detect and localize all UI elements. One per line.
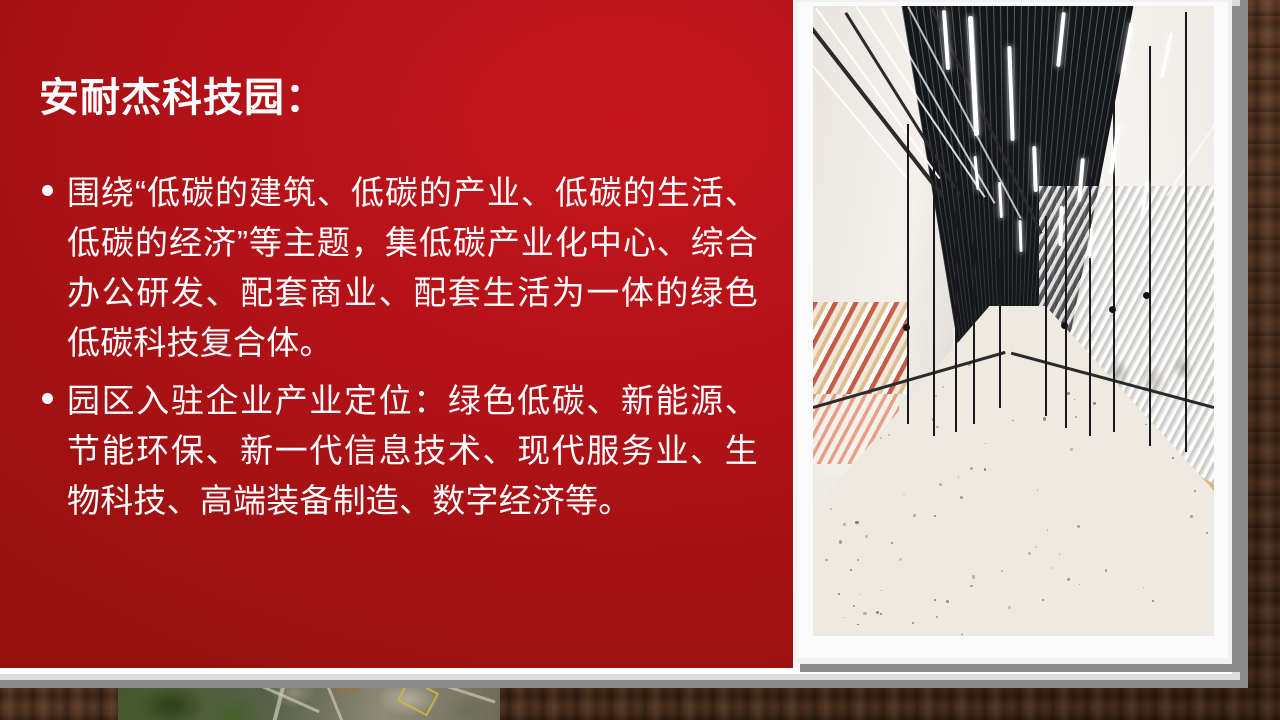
photo-terrazzo-fleck [860,594,861,595]
bullet-dot-icon [42,185,53,196]
photo-door-handle [903,324,910,331]
photo-terrazzo-fleck [880,613,882,615]
photo-glass-mullion [1185,12,1187,452]
photo-terrazzo-fleck [936,616,939,619]
photo-terrazzo-fleck [1043,417,1046,420]
photo-terrazzo-fleck [958,476,960,478]
photo-terrazzo-fleck [1008,606,1011,609]
photo-terrazzo-fleck [961,633,964,636]
photo-terrazzo-fleck [1028,552,1031,555]
photo-terrazzo-fleck [1067,578,1070,581]
photo-terrazzo-fleck [972,575,975,578]
photo-terrazzo-fleck [843,523,845,525]
photo-terrazzo-fleck [839,540,842,543]
photo-glass-mullion [973,218,975,424]
photo-glass-mullion [1045,216,1047,416]
photo-terrazzo-fleck [881,590,882,591]
photo-terrazzo-fleck [1042,599,1044,601]
list-item: 围绕“低碳的建筑、低碳的产业、低碳的生活、低碳的经济”等主题，集低碳产业化中心、… [38,168,758,368]
photo-terrazzo-fleck [865,535,868,538]
list-item-text: 园区入驻企业产业定位：绿色低碳、新能源、节能环保、新一代信息技术、现代服务业、生… [67,382,758,519]
photo-terrazzo-fleck [903,494,905,496]
photo-terrazzo-fleck [913,514,916,517]
red-content-panel: 安耐杰科技园： 围绕“低碳的建筑、低碳的产业、低碳的生活、低碳的经济”等主题，集… [0,0,793,668]
photo-terrazzo-fleck [880,437,882,439]
photo-terrazzo-fleck [912,622,914,624]
photo-terrazzo-fleck [844,617,845,618]
photo-terrazzo-fleck [876,611,879,614]
photo-glass-mullion [933,146,935,436]
photo-terrazzo-fleck [1059,553,1060,554]
photo-terrazzo-fleck [960,496,963,499]
photo-glass-mullion [1149,46,1151,446]
bullet-list: 围绕“低碳的建筑、低碳的产业、低碳的生活、低碳的经济”等主题，集低碳产业化中心、… [38,168,758,534]
photo-terrazzo-fleck [1152,600,1154,602]
photo-terrazzo-fleck [1001,570,1003,572]
presentation-slide: 安耐杰科技园： 围绕“低碳的建筑、低碳的产业、低碳的生活、低碳的经济”等主题，集… [0,0,1280,720]
photo-terrazzo-fleck [934,599,936,601]
photo-terrazzo-fleck [855,521,858,524]
photo-terrazzo-fleck [863,612,866,615]
photo-terrazzo-fleck [970,585,973,588]
photo-glass-mullion [1065,182,1067,428]
list-item: 园区入驻企业产业定位：绿色低碳、新能源、节能环保、新一代信息技术、现代服务业、生… [38,376,758,526]
photo-terrazzo-fleck [934,515,936,517]
photo-terrazzo-fleck [935,395,937,397]
photo-terrazzo-fleck [838,593,840,595]
photo-terrazzo-fleck [939,483,942,486]
photo-terrazzo-fleck [1079,584,1080,585]
list-item-text: 围绕“低碳的建筑、低碳的产业、低碳的生活、低碳的经济”等主题，集低碳产业化中心、… [67,174,758,361]
photo-terrazzo-fleck [1047,529,1049,531]
photo-terrazzo-fleck [825,559,828,562]
photo-terrazzo-fleck [1194,490,1196,492]
photo-terrazzo-fleck [853,605,855,607]
photo-terrazzo-fleck [1075,416,1077,418]
photo-terrazzo-fleck [984,468,987,471]
page-title: 安耐杰科技园： [39,73,326,123]
bullet-dot-icon [42,393,53,404]
photo-terrazzo-fleck [888,434,890,436]
photo-terrazzo-fleck [970,467,973,470]
photo-glass-mullion [955,182,957,432]
photo-glass-mullion [1089,136,1091,436]
photo-door-handle [1143,292,1150,299]
photo-terrazzo-fleck [1051,567,1053,569]
photo-terrazzo-fleck [891,542,893,544]
photo-terrazzo-fleck [1077,525,1080,528]
photo-glass-mullion [999,258,1001,408]
photo-terrazzo-fleck [1035,546,1037,548]
photo-terrazzo-fleck [857,624,859,626]
photo-terrazzo-fleck [936,426,939,429]
photo-terrazzo-fleck [1145,424,1147,426]
photo-terrazzo-fleck [985,443,986,444]
photo-terrazzo-fleck [1143,587,1144,588]
photo-terrazzo-fleck [857,559,859,561]
photo-art-panel [813,302,909,394]
corridor-photo [813,6,1214,636]
photo-terrazzo-fleck [1067,392,1070,395]
photo-door-handle [1061,322,1068,329]
photo-terrazzo-fleck [1093,402,1096,405]
photo-glass-mullion [907,124,909,424]
photo-terrazzo-fleck [1190,515,1193,518]
photo-terrazzo-fleck [1206,532,1208,534]
photo-terrazzo-fleck [946,600,949,603]
photo-terrazzo-fleck [1037,489,1038,490]
photo-terrazzo-fleck [850,569,852,571]
photo-terrazzo-fleck [1105,569,1107,571]
photo-terrazzo-fleck [942,386,944,388]
photo-terrazzo-fleck [1074,399,1075,400]
photo-terrazzo-fleck [1070,448,1073,451]
photo-terrazzo-fleck [830,508,832,510]
photo-door-handle [1109,306,1116,313]
photo-terrazzo-fleck [1012,420,1013,421]
photo-terrazzo-fleck [899,558,902,561]
photo-terrazzo-fleck [1172,457,1174,459]
